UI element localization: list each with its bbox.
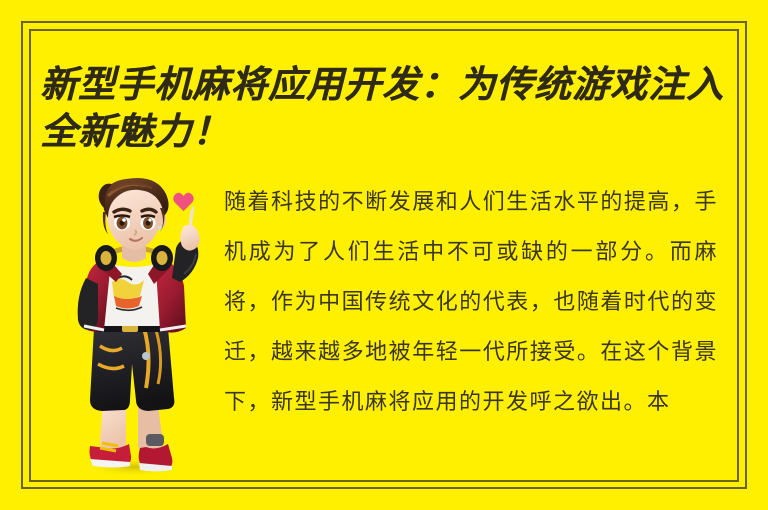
character-illustration bbox=[60, 178, 212, 478]
article-body-text: 随着科技的不断发展和人们生活水平的提高，手机成为了人们生活中不可或缺的一部分。而… bbox=[224, 178, 718, 428]
heart-lollipop bbox=[173, 193, 193, 211]
hand-with-lollipop bbox=[173, 193, 199, 251]
poster-canvas: 新型手机麻将应用开发：为传统游戏注入全新魅力！ 随着科技的不断发展和人们生活水平… bbox=[0, 0, 768, 510]
page-title: 新型手机麻将应用开发：为传统游戏注入全新魅力！ bbox=[40, 62, 740, 156]
cargo-shorts bbox=[90, 328, 174, 411]
